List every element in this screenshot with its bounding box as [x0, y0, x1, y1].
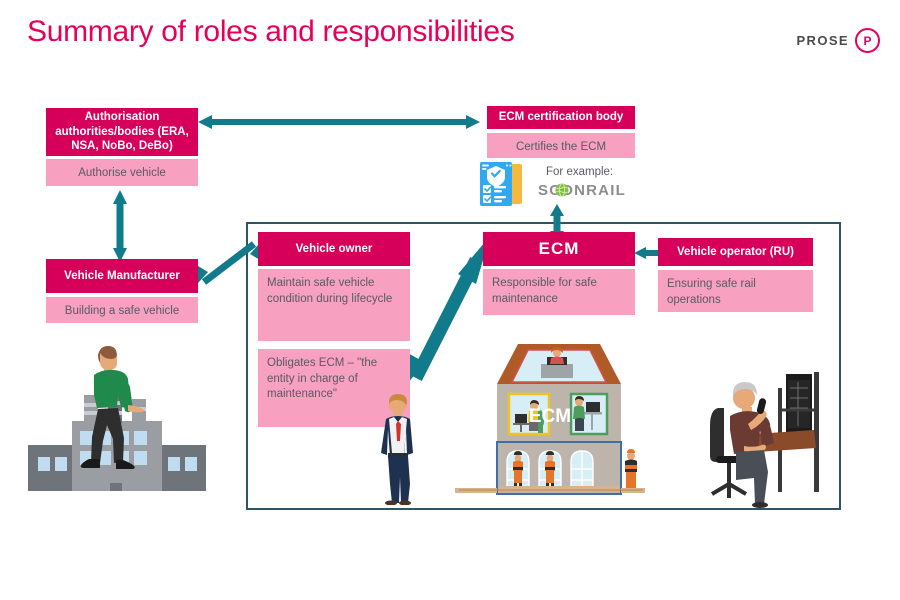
prose-wordmark: PROSE — [796, 33, 849, 48]
card-authorisation-authorities[interactable]: Authorisation authorities/bodies (ERA, N… — [46, 108, 198, 186]
illustration-factory-worker — [28, 333, 206, 491]
illustration-businessman — [374, 393, 422, 505]
prose-logo: PROSE P — [796, 28, 880, 53]
card-vehicle-operator-title: Vehicle operator (RU) — [658, 238, 813, 266]
card-ecm-body: Responsible for safe maintenance — [483, 269, 635, 315]
card-vehicle-owner-title: Vehicle owner — [258, 232, 410, 266]
sconrail-logo-text: SCONRAIL — [538, 182, 626, 199]
for-example-label: For example: — [546, 166, 613, 178]
card-ecm-title: ECM — [483, 232, 635, 266]
card-manufacturer-body: Building a safe vehicle — [46, 297, 198, 323]
page-title: Summary of roles and responsibilities — [27, 15, 514, 49]
arrow-manufacturer-to-vehicle-owner — [190, 232, 268, 294]
illustration-dispatcher — [702, 372, 830, 508]
card-authorisation-title: Authorisation authorities/bodies (ERA, N… — [46, 108, 198, 156]
prose-p-icon: P — [855, 28, 880, 53]
card-vehicle-owner-body-1: Maintain safe vehicle condition during l… — [258, 269, 410, 341]
slide-canvas: Summary of roles and responsibilities PR… — [0, 0, 900, 600]
certificate-icon — [478, 160, 528, 208]
card-ecm-certification-body[interactable]: ECM certification body Certifies the ECM — [487, 106, 635, 158]
card-authorisation-body: Authorise vehicle — [46, 159, 198, 186]
card-vehicle-manufacturer[interactable]: Vehicle Manufacturer Building a safe veh… — [46, 259, 198, 323]
illustration-ecm-building: ECM — [455, 336, 645, 502]
card-cert-body-title: ECM certification body — [487, 106, 635, 129]
card-cert-body-body: Certifies the ECM — [487, 133, 635, 158]
card-vehicle-operator[interactable]: Vehicle operator (RU) Ensuring safe rail… — [658, 238, 813, 312]
arrow-authorisation-to-cert-body — [198, 114, 480, 130]
card-vehicle-operator-body: Ensuring safe rail operations — [658, 270, 813, 312]
arrow-authorisation-to-manufacturer — [112, 190, 128, 262]
svg-text:ECM: ECM — [529, 406, 571, 427]
card-ecm[interactable]: ECM Responsible for safe maintenance — [483, 232, 635, 315]
sconrail-globe-icon — [555, 183, 569, 197]
card-manufacturer-title: Vehicle Manufacturer — [46, 259, 198, 293]
